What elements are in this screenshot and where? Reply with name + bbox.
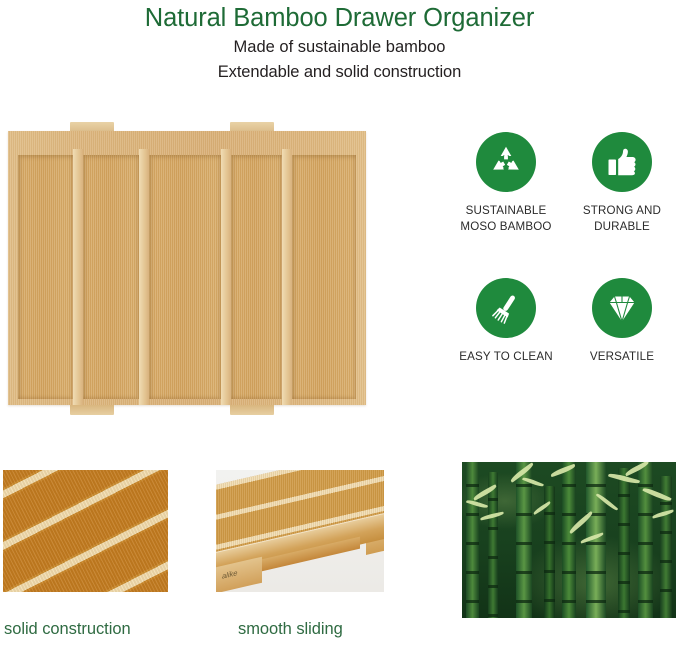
product-infographic: Natural Bamboo Drawer Organizer Made of … — [0, 0, 679, 668]
diamond-badge — [592, 278, 652, 338]
smooth-sliding-image: alike — [216, 470, 384, 592]
feature-badge-grid: SUSTAINABLE MOSO BAMBOO STRONG AND DURAB… — [452, 132, 676, 365]
bamboo-stalk — [516, 462, 532, 618]
bamboo-slats-closeup — [3, 470, 168, 592]
diamond-icon — [602, 288, 642, 328]
recycle-badge — [476, 132, 536, 192]
feature-label: SUSTAINABLE MOSO BAMBOO — [460, 203, 551, 236]
bamboo-drawer-organizer-image — [8, 122, 366, 414]
sliding-mechanism-closeup: alike — [216, 470, 384, 592]
solid-construction-caption: solid construction — [4, 620, 131, 639]
compartment-5 — [292, 155, 356, 399]
diagonal-slat-texture — [3, 470, 168, 592]
feature-label: EASY TO CLEAN — [459, 349, 552, 365]
divider-wall-4 — [282, 149, 292, 405]
compartment-3 — [149, 155, 221, 399]
bamboo-forest-photo — [462, 462, 676, 618]
extension-tab-bottom-left — [70, 405, 114, 415]
extension-tab-bottom-right — [230, 405, 274, 415]
brush-icon — [486, 288, 526, 328]
bamboo-forest-image — [462, 462, 676, 618]
feature-strong-and-durable: STRONG AND DURABLE — [568, 132, 676, 236]
thumbs-up-badge — [592, 132, 652, 192]
subtitle-line-2: Extendable and solid construction — [0, 60, 679, 85]
divider-wall-3 — [221, 149, 231, 405]
feature-label: STRONG AND DURABLE — [583, 203, 661, 236]
divider-wall-2 — [139, 149, 149, 405]
header: Natural Bamboo Drawer Organizer Made of … — [0, 0, 679, 85]
solid-construction-image — [3, 470, 168, 592]
page-title: Natural Bamboo Drawer Organizer — [0, 0, 679, 35]
compartment-2 — [83, 155, 139, 399]
compartment-4 — [231, 155, 282, 399]
thumbs-up-icon — [603, 143, 641, 181]
bamboo-stalk — [638, 462, 653, 618]
smooth-sliding-caption: smooth sliding — [238, 620, 343, 639]
brush-badge — [476, 278, 536, 338]
subtitle-line-1: Made of sustainable bamboo — [0, 35, 679, 60]
bamboo-stalk — [488, 472, 498, 618]
divider-wall-1 — [73, 149, 83, 405]
bamboo-stalk — [466, 462, 479, 618]
bamboo-stalk — [618, 468, 630, 618]
compartment-1 — [18, 155, 73, 399]
feature-sustainable-moso-bamboo: SUSTAINABLE MOSO BAMBOO — [452, 132, 560, 236]
recycle-icon — [486, 142, 526, 182]
feature-versatile: VERSATILE — [568, 278, 676, 365]
bamboo-stalk — [562, 462, 576, 618]
feature-label: VERSATILE — [590, 349, 654, 365]
organizer-frame — [8, 131, 366, 405]
feature-easy-to-clean: EASY TO CLEAN — [452, 278, 560, 365]
